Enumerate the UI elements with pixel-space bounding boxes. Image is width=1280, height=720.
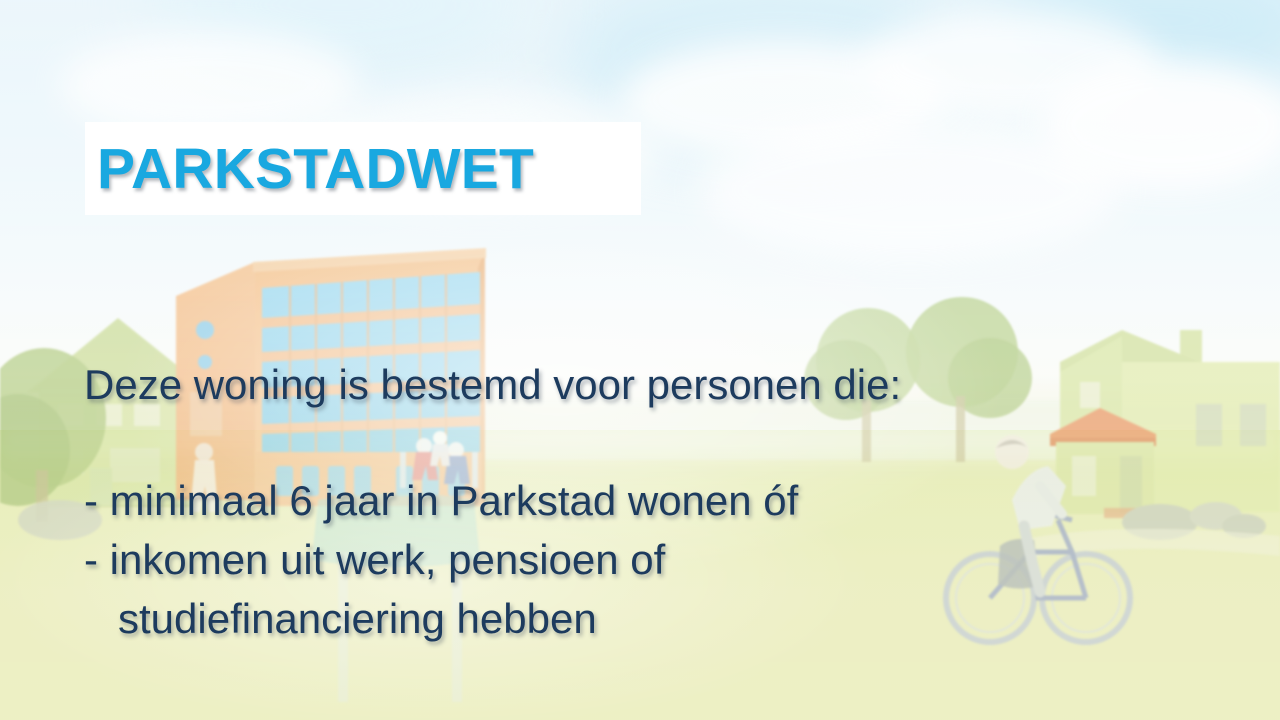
bullet-item-2: - inkomen uit werk, pensioen of xyxy=(84,530,1204,589)
page-title: PARKSTADWET xyxy=(97,132,534,206)
lead-sentence: Deze woning is bestemd voor personen die… xyxy=(84,355,1204,414)
slide-canvas: PARKSTADWET Deze woning is bestemd voor … xyxy=(0,0,1280,720)
bullet-item-2-continuation: studiefinanciering hebben xyxy=(84,589,1204,648)
bullet-item-1: - minimaal 6 jaar in Parkstad wonen óf xyxy=(84,471,1204,530)
body-copy: Deze woning is bestemd voor personen die… xyxy=(84,355,1204,648)
